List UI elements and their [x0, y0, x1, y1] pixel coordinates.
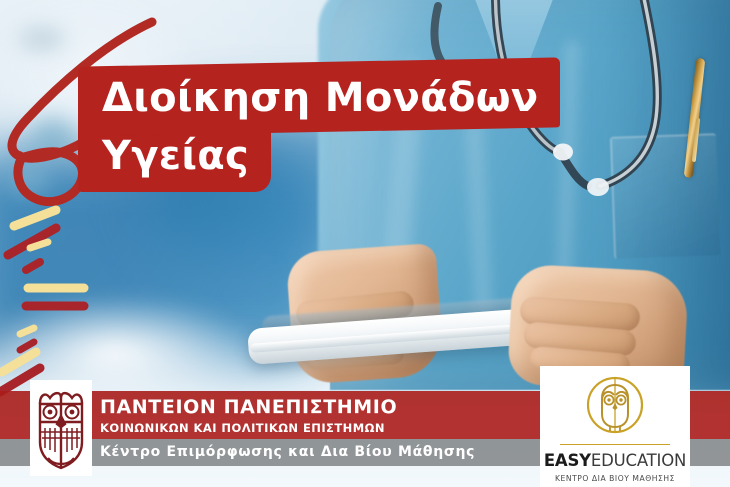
university-subtitle: ΚΟΙΝΩΝΙΚΩΝ ΚΑΙ ΠΟΛΙΤΙΚΩΝ ΕΠΙΣΤΗΜΩΝ	[100, 421, 385, 435]
easyeducation-word-light: EDUCATION	[591, 451, 686, 470]
easyeducation-subtitle: ΚΕΝΤΡΟ ΔΙΑ ΒΙΟΥ ΜΑΘΗΣΗΣ	[555, 474, 675, 483]
easyeducation-wordmark: EASYEDUCATION	[544, 451, 686, 470]
yellow-dash-1	[14, 210, 56, 226]
easyeducation-logo-card: EASYEDUCATION ΚΕΝΤΡΟ ΔΙΑ ΒΙΟΥ ΜΑΘΗΣΗΣ	[540, 366, 690, 487]
panteion-owl-crest-icon	[34, 386, 88, 470]
yellow-dash-4	[20, 328, 34, 334]
red-dash-4	[20, 342, 34, 350]
course-banner: Διοίκηση Μονάδων Υγείας	[0, 0, 730, 487]
title-line-1-text: Διοίκηση Μονάδων	[102, 78, 538, 118]
university-center: Κέντρο Επιμόρφωσης και Δια Βίου Μάθησης	[100, 444, 475, 460]
banner-title: Διοίκηση Μονάδων Υγείας	[78, 62, 560, 192]
red-dash-2	[26, 262, 40, 270]
panteion-crest-box	[30, 380, 92, 476]
easyeducation-owl-icon	[578, 374, 652, 440]
easyeducation-divider	[560, 444, 670, 445]
easyeducation-word-bold: EASY	[544, 451, 591, 470]
title-line-1: Διοίκηση Μονάδων	[78, 57, 560, 136]
university-name: ΠΑΝΤΕΙΟΝ ΠΑΝΕΠΙΣΤΗΜΙΟ	[100, 396, 397, 418]
